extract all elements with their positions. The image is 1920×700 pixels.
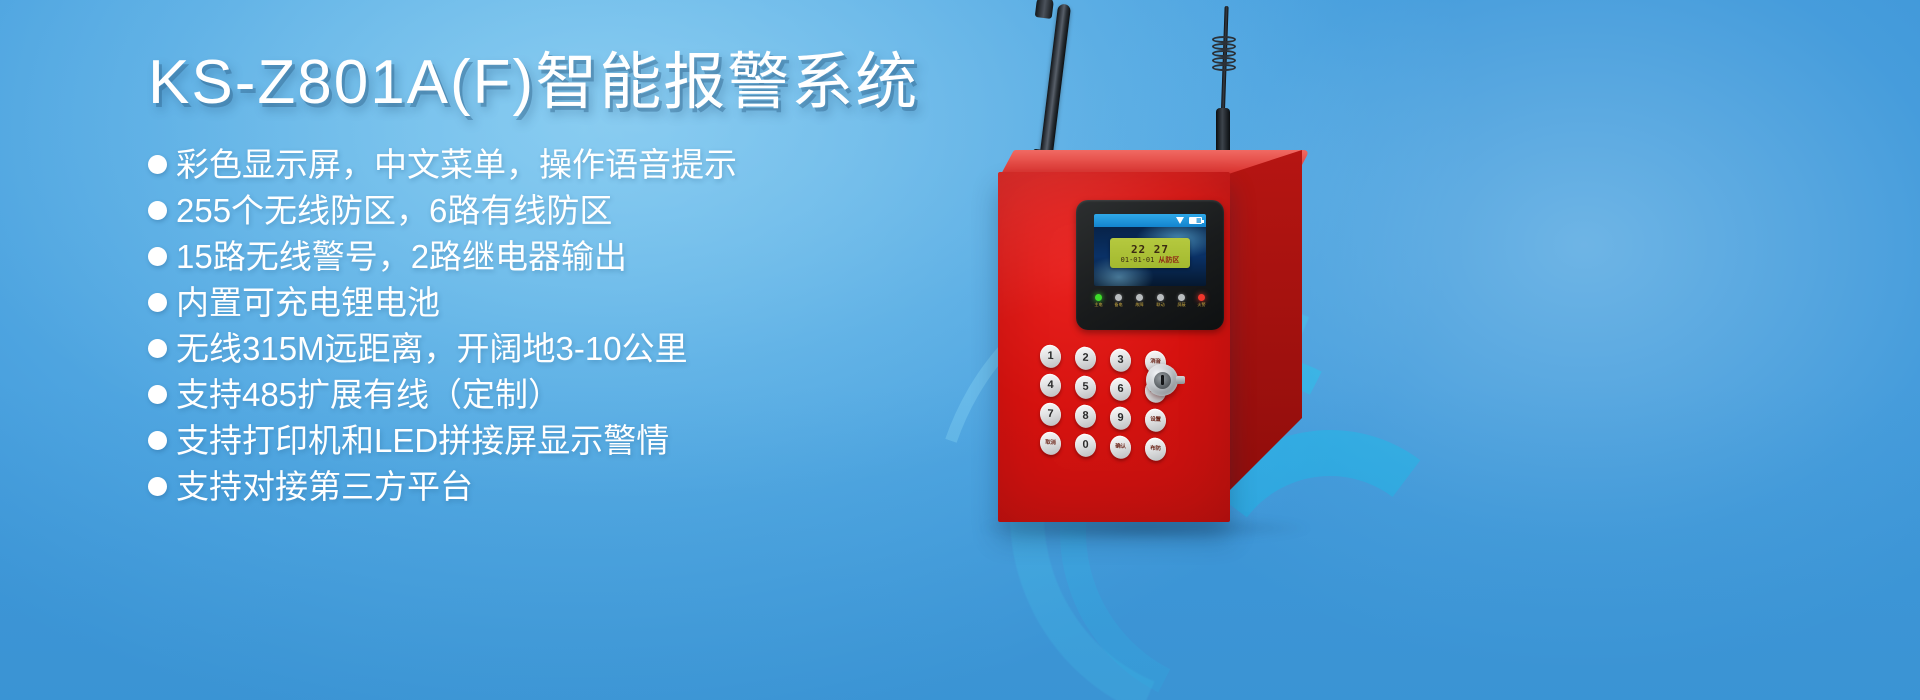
page-title: KS-Z801A(F)智能报警系统 xyxy=(148,46,1008,119)
led-indicator-icon xyxy=(1136,294,1143,301)
led-indicator-icon xyxy=(1095,294,1102,301)
list-item: 支持485扩展有线（定制） xyxy=(148,371,1008,417)
bullet-dot-icon xyxy=(148,155,167,174)
battery-icon xyxy=(1189,217,1202,224)
bullet-dot-icon xyxy=(148,431,167,450)
feature-text: 255个无线防区，6路有线防区 xyxy=(176,194,612,227)
list-item: 内置可充电锂电池 xyxy=(148,279,1008,325)
key-1[interactable]: 1 xyxy=(1040,344,1061,368)
feature-text: 内置可充电锂电池 xyxy=(176,286,440,319)
lock-keyhole xyxy=(1161,375,1164,385)
led-indicator-icon xyxy=(1157,294,1164,301)
key-2[interactable]: 2 xyxy=(1075,346,1096,370)
list-item: 彩色显示屏，中文菜单，操作语音提示 xyxy=(148,141,1008,187)
led-indicator-icon xyxy=(1178,294,1185,301)
antenna-thick-icon xyxy=(1038,3,1071,169)
bullet-dot-icon xyxy=(148,201,167,220)
feature-text: 支持485扩展有线（定制） xyxy=(176,378,561,411)
led-label: 屏蔽 xyxy=(1177,303,1185,307)
lcd-display: 22 27 01-01-01 从防区 xyxy=(1094,214,1206,286)
status-led-fault: 故障 xyxy=(1132,294,1148,308)
key-5[interactable]: 5 xyxy=(1075,375,1096,399)
key-3[interactable]: 3 xyxy=(1110,348,1131,372)
key-lock-icon[interactable] xyxy=(1146,364,1178,396)
list-item: 无线315M远距离，开阔地3-10公里 xyxy=(148,325,1008,371)
status-led-alarm: 火警 xyxy=(1194,294,1210,308)
signal-icon xyxy=(1176,217,1184,224)
led-label: 联动 xyxy=(1156,303,1164,307)
control-bezel: 22 27 01-01-01 从防区 主电 备电 xyxy=(1076,200,1224,330)
key-confirm[interactable]: 确认 xyxy=(1110,435,1131,459)
bullet-dot-icon xyxy=(148,339,167,358)
led-label: 备电 xyxy=(1115,303,1123,307)
lcd-date: 01-01-01 xyxy=(1121,257,1155,264)
lcd-info-panel: 22 27 01-01-01 从防区 xyxy=(1110,238,1190,268)
key-9[interactable]: 9 xyxy=(1110,406,1131,430)
feature-text: 支持对接第三方平台 xyxy=(176,470,473,503)
keypad[interactable]: 1 2 3 消音 4 5 6 复位 7 8 9 设置 取消 0 确认 布防 xyxy=(1040,344,1173,464)
feature-list: 彩色显示屏，中文菜单，操作语音提示 255个无线防区，6路有线防区 15路无线警… xyxy=(148,141,1008,509)
lcd-status-bar xyxy=(1094,214,1206,227)
product-banner: KS-Z801A(F)智能报警系统 彩色显示屏，中文菜单，操作语音提示 255个… xyxy=(0,0,1920,700)
feature-text: 彩色显示屏，中文菜单，操作语音提示 xyxy=(176,148,737,181)
led-label: 主电 xyxy=(1094,303,1102,307)
banner-text-column: KS-Z801A(F)智能报警系统 彩色显示屏，中文菜单，操作语音提示 255个… xyxy=(148,46,1008,509)
key-7[interactable]: 7 xyxy=(1040,402,1061,426)
list-item: 支持对接第三方平台 xyxy=(148,463,1008,509)
bullet-dot-icon xyxy=(148,293,167,312)
status-led-backup-power: 备电 xyxy=(1111,294,1127,308)
bullet-dot-icon xyxy=(148,477,167,496)
status-led-row: 主电 备电 故障 联动 屏蔽 xyxy=(1090,294,1210,308)
status-led-linkage: 联动 xyxy=(1152,294,1168,308)
key-settings[interactable]: 设置 xyxy=(1145,408,1166,432)
led-indicator-icon xyxy=(1115,294,1122,301)
status-led-bypass: 屏蔽 xyxy=(1173,294,1189,308)
status-led-main-power: 主电 xyxy=(1090,294,1106,308)
list-item: 支持打印机和LED拼接屏显示警情 xyxy=(148,417,1008,463)
lcd-status-text: 从防区 xyxy=(1158,257,1179,264)
feature-text: 15路无线警号，2路继电器输出 xyxy=(176,240,627,273)
key-4[interactable]: 4 xyxy=(1040,373,1061,397)
key-8[interactable]: 8 xyxy=(1075,404,1096,428)
bullet-dot-icon xyxy=(148,385,167,404)
lock-tab xyxy=(1176,376,1185,384)
led-indicator-icon xyxy=(1198,294,1205,301)
key-arm[interactable]: 布防 xyxy=(1145,437,1166,461)
key-0[interactable]: 0 xyxy=(1075,433,1096,457)
feature-text: 无线315M远距离，开阔地3-10公里 xyxy=(176,332,688,365)
list-item: 255个无线防区，6路有线防区 xyxy=(148,187,1008,233)
lcd-time: 22 27 xyxy=(1131,244,1169,255)
alarm-control-panel: 22 27 01-01-01 从防区 主电 备电 xyxy=(940,0,1500,700)
antenna-coil-icon xyxy=(1212,36,1236,76)
antenna-thick-tip xyxy=(1035,0,1055,19)
led-label: 火警 xyxy=(1198,303,1206,307)
key-cancel[interactable]: 取消 xyxy=(1040,431,1061,455)
key-6[interactable]: 6 xyxy=(1110,377,1131,401)
lock-cylinder xyxy=(1154,372,1171,389)
feature-text: 支持打印机和LED拼接屏显示警情 xyxy=(176,424,669,457)
lcd-sub-row: 01-01-01 从防区 xyxy=(1121,257,1180,264)
bullet-dot-icon xyxy=(148,247,167,266)
list-item: 15路无线警号，2路继电器输出 xyxy=(148,233,1008,279)
led-label: 故障 xyxy=(1135,303,1143,307)
